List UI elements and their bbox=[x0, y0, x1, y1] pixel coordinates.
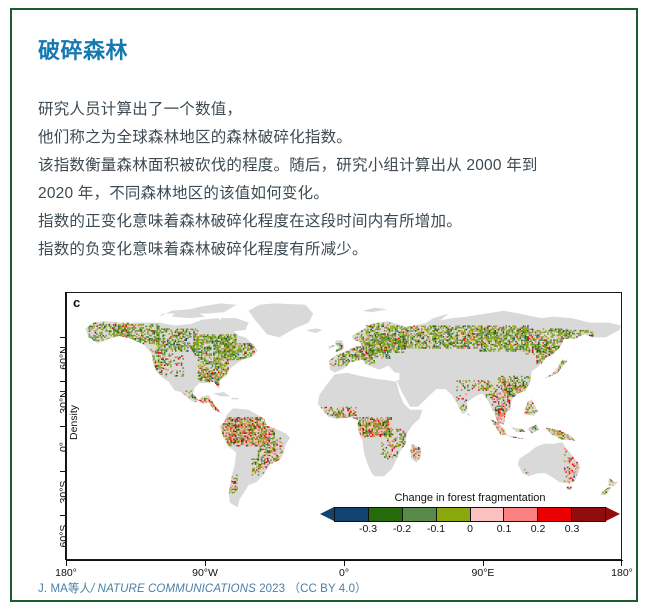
caption-license: （CC BY 4.0） bbox=[288, 583, 366, 595]
colorbar-tick-label: 0.1 bbox=[497, 523, 512, 535]
x-axis-tick bbox=[205, 561, 206, 566]
x-axis-tick-label: 90°W bbox=[192, 567, 218, 579]
colorbar-extend-low bbox=[320, 507, 334, 521]
x-axis-tick bbox=[483, 561, 484, 566]
colorbar-cell bbox=[403, 508, 437, 521]
colorbar-tick-label: -0.1 bbox=[427, 523, 445, 535]
x-axis-tick-label: 180° bbox=[611, 567, 633, 579]
colorbar-tick-label: -0.2 bbox=[393, 523, 411, 535]
body-line: 2020 年，不同森林地区的该值如何变化。 bbox=[38, 180, 628, 208]
colorbar-cell bbox=[369, 508, 403, 521]
body-line: 指数的负变化意味着森林破碎化程度有所减少。 bbox=[38, 236, 628, 264]
forest-fragmentation-figure: 60°N30°N0°30°S60°S c Density Change in f… bbox=[38, 292, 630, 567]
caption-year: 2023 bbox=[259, 583, 285, 595]
panel-letter: c bbox=[73, 295, 80, 310]
colorbar-tick-labels: -0.3-0.2-0.100.10.20.3 bbox=[320, 523, 620, 537]
colorbar-cell bbox=[504, 508, 538, 521]
colorbar bbox=[320, 507, 620, 522]
colorbar-cell bbox=[437, 508, 471, 521]
colorbar-cell bbox=[471, 508, 505, 521]
colorbar-cells bbox=[334, 507, 606, 522]
density-axis-label: Density bbox=[68, 405, 80, 440]
x-axis-tick-label: 180° bbox=[55, 567, 77, 579]
body-line: 研究人员计算出了一个数值， bbox=[38, 96, 628, 124]
x-axis-tick bbox=[66, 561, 67, 566]
body-line: 他们称之为全球森林地区的森林破碎化指数。 bbox=[38, 124, 628, 152]
colorbar-cell bbox=[572, 508, 605, 521]
colorbar-legend: Change in forest fragmentation -0.3-0.2-… bbox=[320, 492, 620, 537]
body-line: 该指数衡量森林面积被砍伐的程度。随后，研究小组计算出从 2000 年到 bbox=[38, 152, 628, 180]
colorbar-cell bbox=[335, 508, 369, 521]
x-axis-tick-label: 90°E bbox=[472, 567, 495, 579]
x-axis-tick bbox=[344, 561, 345, 566]
page-title: 破碎森林 bbox=[38, 38, 128, 64]
colorbar-tick-label: 0.2 bbox=[531, 523, 546, 535]
colorbar-title: Change in forest fragmentation bbox=[320, 492, 620, 504]
screenshot-root: 破碎森林 研究人员计算出了一个数值， 他们称之为全球森林地区的森林破碎化指数。 … bbox=[0, 0, 648, 616]
colorbar-tick-label: 0.3 bbox=[565, 523, 580, 535]
colorbar-tick-label: -0.3 bbox=[359, 523, 377, 535]
colorbar-tick-label: 0 bbox=[467, 523, 473, 535]
body-line: 指数的正变化意味着森林破碎化程度在这段时间内有所增加。 bbox=[38, 208, 628, 236]
figure-caption: J. MA等人/ NATURE COMMUNICATIONS 2023 （CC … bbox=[38, 580, 367, 596]
article-card: 破碎森林 研究人员计算出了一个数值， 他们称之为全球森林地区的森林破碎化指数。 … bbox=[10, 8, 638, 602]
caption-author: J. MA等人 bbox=[38, 583, 91, 595]
colorbar-cell bbox=[538, 508, 572, 521]
caption-journal: / NATURE COMMUNICATIONS bbox=[91, 583, 256, 595]
x-axis-tick bbox=[621, 561, 622, 566]
colorbar-extend-high bbox=[606, 507, 620, 521]
x-axis-tick-label: 0° bbox=[339, 567, 349, 579]
article-body: 研究人员计算出了一个数值， 他们称之为全球森林地区的森林破碎化指数。 该指数衡量… bbox=[38, 96, 628, 264]
